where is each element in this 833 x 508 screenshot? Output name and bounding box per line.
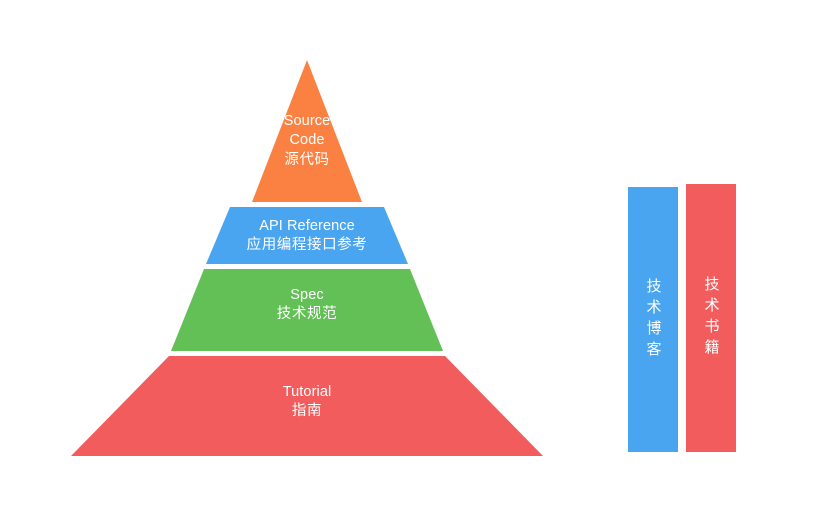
pyramid-tier-api-reference-shape[interactable] xyxy=(206,207,408,264)
side-bar-tech-books[interactable]: 技术书籍 xyxy=(686,184,736,452)
diagram-canvas: Source Code 源代码 API Reference 应用编程接口参考 S… xyxy=(0,0,833,508)
pyramid-tier-spec-shape[interactable] xyxy=(171,269,443,351)
pyramid-tier-source-code-shape[interactable] xyxy=(252,60,362,202)
side-bar-tech-blog[interactable]: 技术博客 xyxy=(628,187,678,452)
pyramid-tier-tutorial-shape[interactable] xyxy=(71,356,543,456)
side-bar-tech-blog-label: 技术博客 xyxy=(646,278,661,362)
side-bar-tech-books-label: 技术书籍 xyxy=(704,276,719,360)
